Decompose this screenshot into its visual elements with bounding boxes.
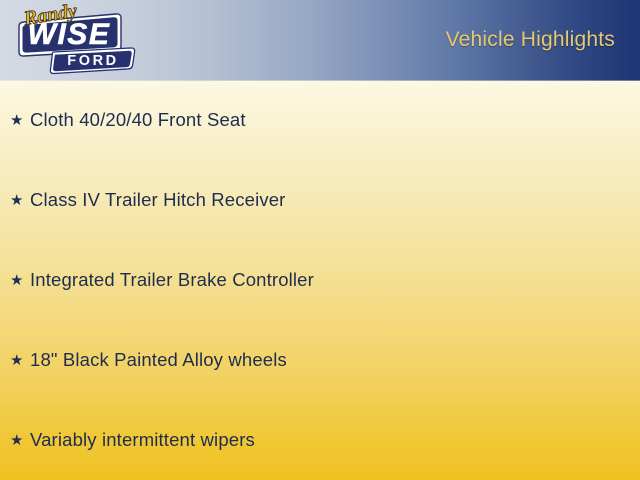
list-item-label: Variably intermittent wipers (30, 429, 255, 451)
star-icon: ★ (10, 273, 30, 288)
list-item-label: Cloth 40/20/40 Front Seat (30, 109, 246, 131)
list-item-label: Class IV Trailer Hitch Receiver (30, 189, 286, 211)
page-title: Vehicle Highlights (446, 28, 615, 52)
list-item: ★ Cloth 40/20/40 Front Seat (0, 80, 640, 160)
header-bar: WISE FORD Randy Vehicle Highlights (0, 0, 640, 80)
star-icon: ★ (10, 433, 30, 448)
randy-wise-ford-logo: WISE FORD Randy (8, 2, 136, 78)
list-item-label: 18" Black Painted Alloy wheels (30, 349, 287, 371)
list-item: ★ Variably intermittent wipers (0, 400, 640, 480)
logo-graphic: WISE FORD Randy (8, 2, 136, 78)
list-item: ★ Class IV Trailer Hitch Receiver (0, 160, 640, 240)
vehicle-highlights-list: ★ Cloth 40/20/40 Front Seat ★ Class IV T… (0, 80, 640, 480)
star-icon: ★ (10, 193, 30, 208)
star-icon: ★ (10, 113, 30, 128)
list-item-label: Integrated Trailer Brake Controller (30, 269, 314, 291)
vehicle-highlights-slide: WISE FORD Randy Vehicle Highlights ★ Clo… (0, 0, 640, 480)
list-item: ★ 18" Black Painted Alloy wheels (0, 320, 640, 400)
list-item: ★ Integrated Trailer Brake Controller (0, 240, 640, 320)
star-icon: ★ (10, 353, 30, 368)
logo-ford-text: FORD (67, 53, 118, 69)
